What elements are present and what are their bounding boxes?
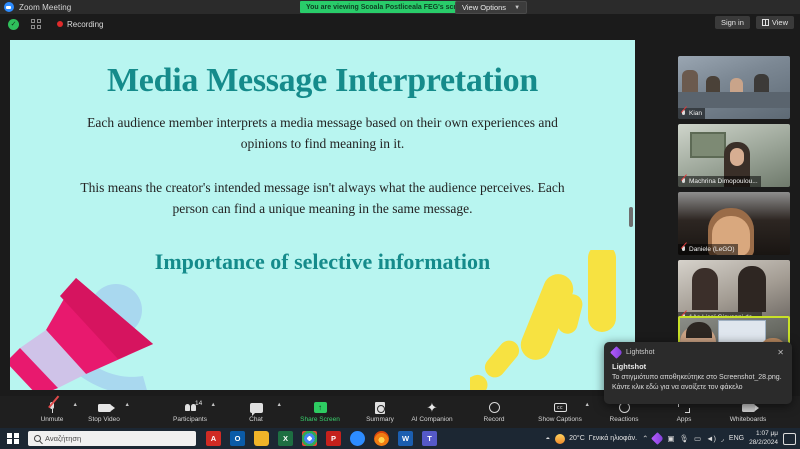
view-options-label: View Options bbox=[462, 3, 506, 12]
battery-icon[interactable]: ▭ bbox=[694, 434, 701, 443]
chrome-icon[interactable] bbox=[302, 431, 317, 446]
layout-view-icon bbox=[762, 19, 769, 26]
participant-name: Machrina Dimopoulou... bbox=[689, 178, 758, 185]
shared-screen-stage: Media Message Interpretation Each audien… bbox=[0, 34, 668, 396]
participant-name: Daniele (LeGO) bbox=[689, 246, 735, 253]
slide-paragraph-1: Each audience member interprets a media … bbox=[68, 112, 577, 154]
recording-indicator[interactable]: Recording bbox=[57, 20, 103, 29]
toolbar-button-summary[interactable]: Summary bbox=[354, 396, 406, 428]
toolbar-label: Apps bbox=[677, 416, 692, 423]
camera-tray-icon[interactable]: ▣ bbox=[667, 434, 674, 443]
lightshot-notification-toast[interactable]: Lightshot ✕ Lightshot Το στιγμιότυπο απο… bbox=[604, 342, 792, 404]
toolbar-label: Show Captions bbox=[538, 416, 582, 423]
zoom-icon[interactable] bbox=[350, 431, 365, 446]
participant-name-bar: Machrina Dimopoulou... bbox=[678, 176, 761, 187]
microphone-muted-icon bbox=[681, 110, 686, 118]
chevron-up-icon[interactable]: ▲ bbox=[211, 402, 216, 408]
search-placeholder: Αναζήτηση bbox=[45, 434, 81, 443]
weather-description: Γενικά ηλιοφάν. bbox=[589, 435, 637, 442]
toast-header: Lightshot ✕ bbox=[612, 348, 784, 357]
notification-center-icon[interactable] bbox=[783, 433, 796, 445]
record-circle-icon bbox=[489, 401, 500, 414]
toolbar-button-stop-video[interactable]: Stop Video ▲ bbox=[78, 396, 130, 428]
toolbar-label: AI Companion bbox=[411, 416, 452, 423]
chevron-down-icon: ▼ bbox=[514, 5, 520, 11]
chevron-up-icon[interactable]: ▲ bbox=[585, 402, 590, 408]
toast-title: Lightshot bbox=[612, 362, 784, 371]
search-icon bbox=[34, 435, 41, 442]
microphone-muted-icon bbox=[681, 178, 686, 186]
summary-doc-icon bbox=[375, 401, 385, 414]
toolbar-button-show-captions[interactable]: cc Show Captions ▲ bbox=[530, 396, 590, 428]
taskbar-app-icons: A O X P W T bbox=[206, 431, 437, 446]
window-title: Zoom Meeting bbox=[19, 3, 71, 12]
participant-name-bar: Kian bbox=[678, 108, 705, 119]
word-icon[interactable]: W bbox=[398, 431, 413, 446]
zoom-logo-icon bbox=[4, 2, 14, 12]
participant-tile[interactable]: Kian bbox=[678, 56, 790, 119]
screen-share-banner: You are viewing Scoala Postliceala FEG's… bbox=[300, 1, 474, 13]
adobe-acrobat-icon[interactable]: A bbox=[206, 431, 221, 446]
toolbar-button-participants[interactable]: 14 Participants ▲ bbox=[164, 396, 216, 428]
file-explorer-icon[interactable] bbox=[254, 431, 269, 446]
chat-bubble-icon bbox=[250, 401, 263, 414]
recording-dot-icon bbox=[57, 21, 63, 27]
toolbar-button-chat[interactable]: Chat ▲ bbox=[230, 396, 282, 428]
recording-label: Recording bbox=[67, 20, 103, 29]
toolbar-button-share-screen[interactable]: ↑ Share Screen bbox=[294, 396, 346, 428]
view-options-dropdown[interactable]: View Options ▼ bbox=[455, 1, 527, 14]
clock-date: 28/2/2024 bbox=[749, 439, 778, 448]
top-right-controls: Sign in View bbox=[715, 16, 794, 29]
toolbar-button-ai-companion[interactable]: ✦ AI Companion bbox=[406, 396, 458, 428]
slide-paragraph-2: This means the creator's intended messag… bbox=[68, 177, 577, 219]
firefox-icon[interactable] bbox=[374, 431, 389, 446]
clock-time: 1:07 μμ bbox=[756, 430, 778, 439]
teams-icon[interactable]: T bbox=[422, 431, 437, 446]
participant-tile[interactable]: 1As Liceï Giovanni da ... bbox=[678, 260, 790, 323]
clock[interactable]: 1:07 μμ 28/2/2024 bbox=[749, 430, 778, 447]
toolbar-label: Reactions bbox=[610, 416, 639, 423]
closed-captions-icon: cc bbox=[554, 401, 567, 414]
participant-tile[interactable]: Machrina Dimopoulou... bbox=[678, 124, 790, 187]
lightshot-tray-icon[interactable] bbox=[651, 432, 664, 445]
chevron-up-icon[interactable]: ▲ bbox=[125, 402, 130, 408]
microphone-muted-icon bbox=[49, 401, 55, 414]
excel-icon[interactable]: X bbox=[278, 431, 293, 446]
toolbar-label: Unmute bbox=[41, 416, 64, 423]
camera-icon bbox=[98, 401, 111, 414]
toolbar-button-unmute[interactable]: Unmute ▲ bbox=[26, 396, 78, 428]
pdf-reader-icon[interactable]: P bbox=[326, 431, 341, 446]
ai-sparkle-icon: ✦ bbox=[427, 401, 438, 414]
search-input[interactable]: Αναζήτηση bbox=[28, 431, 196, 446]
presentation-slide: Media Message Interpretation Each audien… bbox=[10, 40, 635, 390]
weather-temperature: 20°C bbox=[569, 435, 585, 442]
toolbar-label: Summary bbox=[366, 416, 394, 423]
microphone-muted-icon bbox=[681, 246, 686, 254]
view-button[interactable]: View bbox=[756, 16, 794, 29]
volume-icon[interactable]: ◄) bbox=[706, 434, 716, 443]
share-banner-text: You are viewing Scoala Postliceala FEG's… bbox=[306, 4, 468, 11]
people-icon bbox=[185, 401, 196, 414]
sign-in-button[interactable]: Sign in bbox=[715, 16, 750, 29]
language-indicator[interactable]: ENG bbox=[729, 435, 744, 442]
sun-icon bbox=[555, 434, 565, 444]
view-grid-icon[interactable] bbox=[31, 19, 41, 29]
close-icon[interactable]: ✕ bbox=[777, 349, 784, 357]
toolbar-label: Whiteboards bbox=[730, 416, 767, 423]
windows-taskbar: Αναζήτηση A O X P W T ◓ 20°C Γενικά ηλιο… bbox=[0, 428, 800, 449]
zoom-meeting-window: Zoom Meeting You are viewing Scoala Post… bbox=[0, 0, 800, 449]
microphone-tray-icon[interactable]: 🎙 bbox=[679, 434, 689, 443]
participant-name: Kian bbox=[689, 110, 702, 117]
toast-body: Το στιγμιότυπο αποθηκεύτηκε στο Screensh… bbox=[612, 373, 784, 393]
toast-app-name: Lightshot bbox=[626, 349, 654, 356]
meeting-top-bar: Recording bbox=[0, 14, 800, 34]
slide-title: Media Message Interpretation bbox=[10, 62, 635, 100]
outlook-icon[interactable]: O bbox=[230, 431, 245, 446]
help-icon[interactable]: ◓ bbox=[546, 434, 551, 443]
slide-drag-handle[interactable] bbox=[629, 207, 633, 227]
participant-name-bar: Daniele (LeGO) bbox=[678, 244, 738, 255]
lightshot-feather-icon bbox=[610, 346, 623, 359]
weather-widget[interactable]: 20°C Γενικά ηλιοφάν. bbox=[555, 434, 637, 444]
participants-count: 14 bbox=[195, 400, 202, 407]
view-button-label: View bbox=[772, 18, 788, 27]
toolbar-label: Participants bbox=[173, 416, 207, 423]
participant-tile[interactable]: Daniele (LeGO) bbox=[678, 192, 790, 255]
chevron-up-icon[interactable]: ▲ bbox=[277, 402, 282, 408]
system-tray: ◓ 20°C Γενικά ηλιοφάν. ⌃ ▣ 🎙 ▭ ◄) ◞ ENG … bbox=[546, 428, 796, 449]
toolbar-label: Chat bbox=[249, 416, 263, 423]
toolbar-label: Record bbox=[484, 416, 505, 423]
windows-start-icon[interactable] bbox=[0, 433, 26, 445]
security-shield-icon[interactable] bbox=[8, 19, 19, 30]
network-icon[interactable]: ◞ bbox=[721, 434, 724, 443]
slide-subtitle: Importance of selective information bbox=[10, 245, 635, 279]
toolbar-button-record[interactable]: Record bbox=[468, 396, 520, 428]
toolbar-label: Stop Video bbox=[88, 416, 120, 423]
chevron-up-icon[interactable]: ⌃ bbox=[642, 434, 648, 443]
share-screen-icon: ↑ bbox=[314, 401, 327, 414]
toolbar-label: Share Screen bbox=[300, 416, 340, 423]
